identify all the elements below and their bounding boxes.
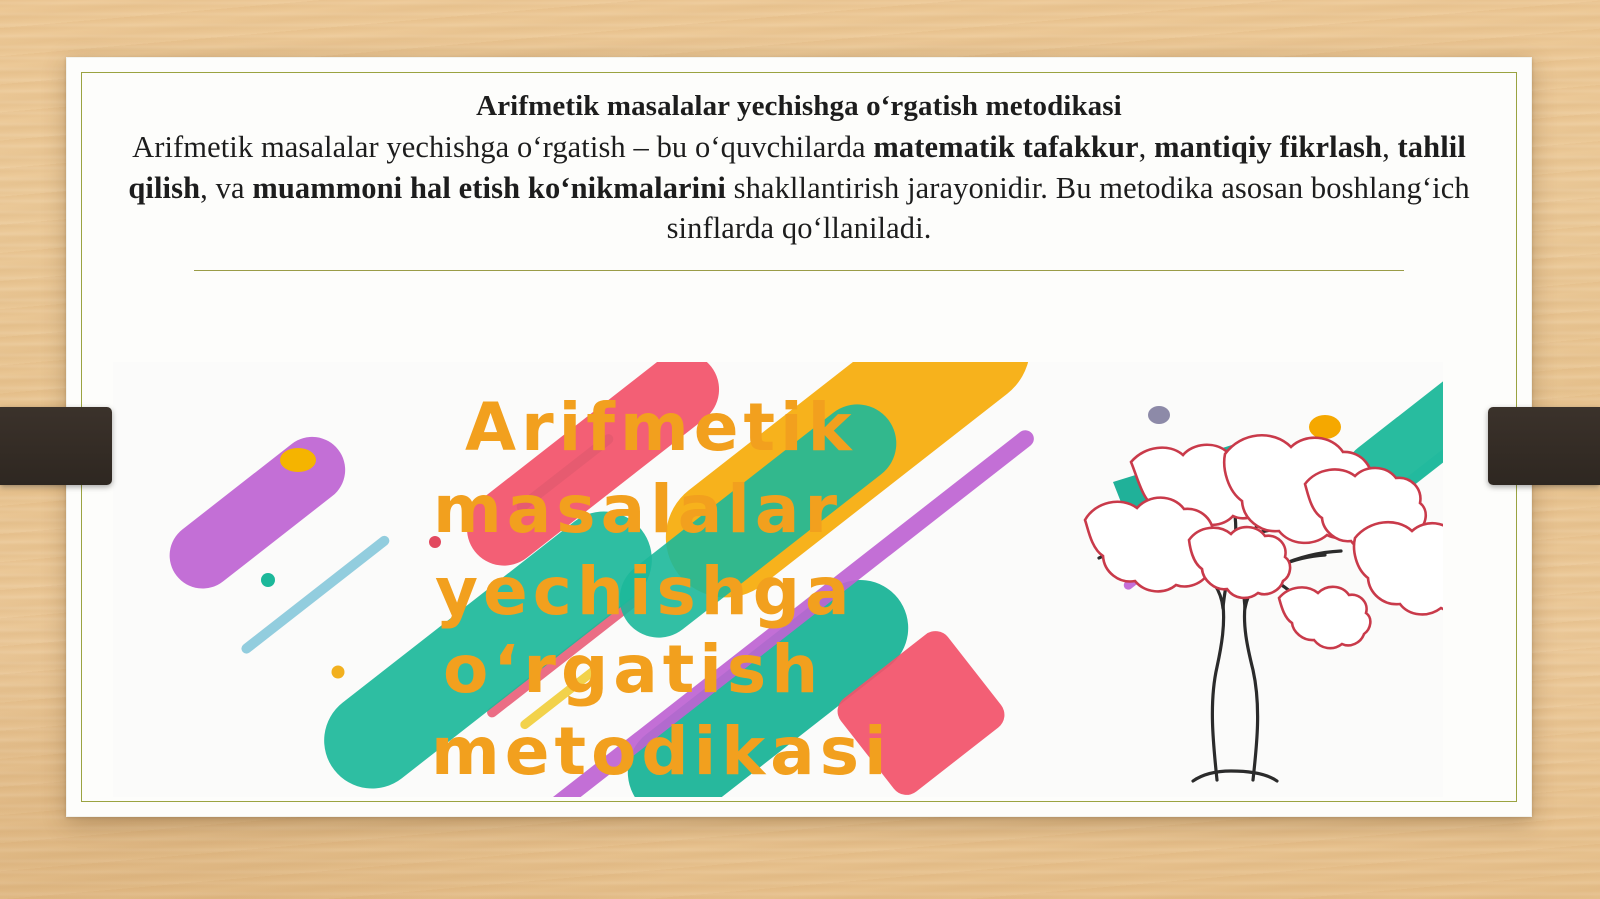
left-clamp-bar — [0, 407, 112, 485]
headline-line-1: Arifmetik — [465, 389, 857, 466]
section-divider — [194, 270, 1404, 271]
headline-line-5: metodikasi — [431, 713, 892, 790]
slide-text-block: Arifmetik masalalar yechishga o‘rgatish … — [107, 86, 1491, 249]
slide-content: Arifmetik masalalar yechishga o‘rgatish … — [107, 86, 1491, 792]
poster-illustration: .hl { font-family: "DejaVu Sans", sans-s… — [113, 362, 1443, 797]
page-title: Arifmetik masalalar yechishga o‘rgatish … — [111, 86, 1487, 127]
body-seg-1: Arifmetik masalalar yechishga o‘rgatish … — [132, 130, 873, 164]
right-clamp-bar — [1488, 407, 1600, 485]
headline-line-3: yechishga — [435, 553, 855, 630]
slide-body-paragraph: Arifmetik masalalar yechishga o‘rgatish … — [111, 127, 1487, 249]
body-seg-5: shakllantirish jarayonidir. Bu metodika … — [667, 171, 1470, 246]
body-bold-mantiqiy-fikrlash: mantiqiy fikrlash — [1154, 130, 1382, 164]
headline-line-4: o‘rgatish — [443, 631, 823, 708]
slide-card: Arifmetik masalalar yechishga o‘rgatish … — [66, 57, 1532, 817]
poster-headline: Arifmetik masalalar yechishga o‘rgatish … — [431, 389, 892, 790]
poster-illustration-svg: .hl { font-family: "DejaVu Sans", sans-s… — [113, 362, 1443, 797]
body-seg-2: , — [1139, 130, 1154, 164]
headline-line-2: masalalar — [433, 471, 842, 548]
body-seg-3: , — [1382, 130, 1397, 164]
body-seg-4: , va — [200, 171, 252, 205]
body-bold-muammoni-hal-etish: muammoni hal etish ko‘nikmalarini — [252, 171, 726, 205]
body-bold-matematik-tafakkur: matematik tafakkur — [873, 130, 1138, 164]
